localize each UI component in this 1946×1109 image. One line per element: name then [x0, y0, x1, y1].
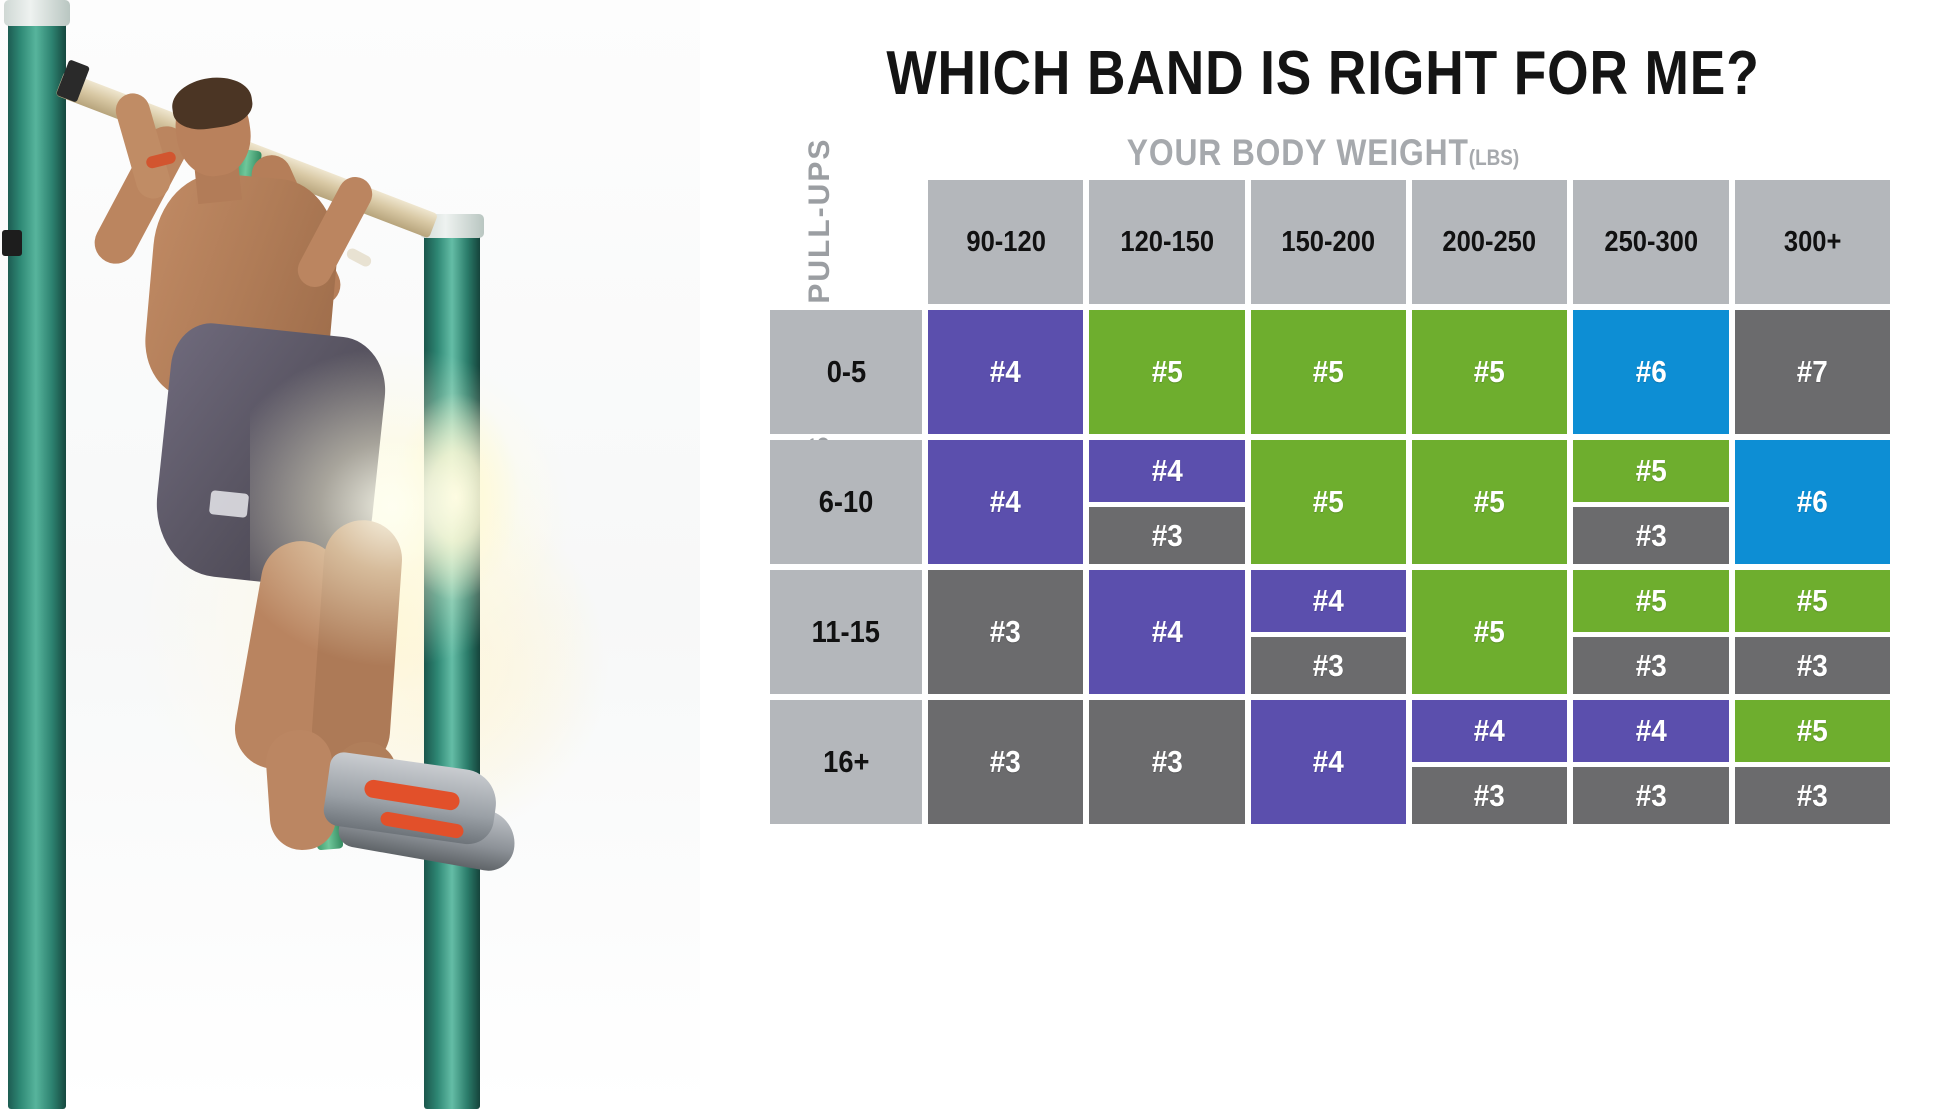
infographic-page: WHICH BAND IS RIGHT FOR ME? YOUR BODY WE… — [0, 0, 1946, 1109]
shorts-logo — [209, 490, 249, 518]
column-header: 200-250 — [1412, 180, 1567, 304]
column-header: 150-200 — [1251, 180, 1406, 304]
band-label: #4 — [990, 484, 1021, 520]
band-label: #5 — [1474, 614, 1505, 650]
band-label: #7 — [1797, 354, 1828, 390]
band-label: #5 — [1635, 453, 1666, 489]
row-header-label: 0-5 — [826, 354, 865, 390]
band-cell[interactable]: #4#3 — [1573, 700, 1728, 824]
band-cell-segment[interactable]: #3 — [1412, 767, 1567, 824]
band-cell-segment[interactable]: #3 — [1573, 767, 1728, 824]
pull-up-post-left — [8, 0, 66, 1109]
band-cell[interactable]: #6 — [1573, 310, 1728, 434]
band-label: #3 — [1151, 744, 1182, 780]
column-header-label: 150-200 — [1281, 226, 1375, 259]
x-axis-label-unit: (LBS) — [1469, 145, 1519, 170]
band-label: #4 — [990, 354, 1021, 390]
post-bracket-icon — [2, 230, 22, 256]
band-label: #3 — [1151, 518, 1182, 554]
row-header-label: 11-15 — [812, 614, 880, 650]
band-cell-segment[interactable]: #4 — [1089, 570, 1244, 694]
band-cell-segment[interactable]: #3 — [928, 700, 1083, 824]
band-cell[interactable]: #4#3 — [1412, 700, 1567, 824]
band-cell[interactable]: #5 — [1089, 310, 1244, 434]
x-axis-label: YOUR BODY WEIGHT(LBS) — [787, 132, 1859, 174]
band-label: #5 — [1313, 354, 1344, 390]
band-cell[interactable]: #3 — [928, 700, 1083, 824]
band-cell[interactable]: #3 — [928, 570, 1083, 694]
band-cell-segment[interactable]: #5 — [1412, 310, 1567, 434]
band-cell[interactable]: #6 — [1735, 440, 1890, 564]
band-cell[interactable]: #4 — [928, 440, 1083, 564]
band-label: #6 — [1797, 484, 1828, 520]
column-header-label: 200-250 — [1443, 226, 1537, 259]
band-label: #3 — [1635, 648, 1666, 684]
pull-up-post-right — [424, 218, 480, 1109]
band-cell[interactable]: #4 — [928, 310, 1083, 434]
band-cell-segment[interactable]: #4 — [1251, 700, 1406, 824]
band-cell-segment[interactable]: #3 — [1735, 637, 1890, 694]
band-label: #4 — [1474, 713, 1505, 749]
band-cell-segment[interactable]: #5 — [1735, 570, 1890, 632]
band-label: #5 — [1797, 713, 1828, 749]
column-header: 90-120 — [928, 180, 1083, 304]
band-cell-segment[interactable]: #4 — [1089, 440, 1244, 502]
band-label: #4 — [1313, 583, 1344, 619]
row-header: 6-10 — [770, 440, 922, 564]
band-cell[interactable]: #4 — [1251, 700, 1406, 824]
band-label: #4 — [1313, 744, 1344, 780]
band-cell-segment[interactable]: #5 — [1251, 310, 1406, 434]
band-cell-segment[interactable]: #5 — [1412, 440, 1567, 564]
band-cell-segment[interactable]: #5 — [1251, 440, 1406, 564]
band-label: #3 — [1313, 648, 1344, 684]
band-cell-segment[interactable]: #3 — [1089, 507, 1244, 564]
band-cell[interactable]: #5 — [1412, 310, 1567, 434]
column-header-label: 300+ — [1784, 226, 1841, 259]
band-cell[interactable]: #4#3 — [1089, 440, 1244, 564]
band-cell-segment[interactable]: #6 — [1573, 310, 1728, 434]
band-cell-segment[interactable]: #5 — [1573, 570, 1728, 632]
band-label: #5 — [1635, 583, 1666, 619]
band-label: #5 — [1151, 354, 1182, 390]
x-axis-label-main: YOUR BODY WEIGHT — [1127, 132, 1469, 173]
band-cell-segment[interactable]: #5 — [1412, 570, 1567, 694]
column-header: 120-150 — [1089, 180, 1244, 304]
band-label: #5 — [1474, 354, 1505, 390]
band-cell-segment[interactable]: #7 — [1735, 310, 1890, 434]
band-label: #3 — [1635, 778, 1666, 814]
row-header-label: 6-10 — [819, 484, 874, 520]
column-header-label: 90-120 — [966, 226, 1045, 259]
band-label: #5 — [1313, 484, 1344, 520]
band-label: #4 — [1151, 614, 1182, 650]
column-header: 250-300 — [1573, 180, 1728, 304]
band-cell[interactable]: #5#3 — [1573, 440, 1728, 564]
post-cap-left — [4, 0, 70, 26]
band-cell[interactable]: #5 — [1412, 440, 1567, 564]
band-cell-segment[interactable]: #3 — [1735, 767, 1890, 824]
band-cell[interactable]: #3 — [1089, 700, 1244, 824]
band-cell[interactable]: #5#3 — [1735, 700, 1890, 824]
band-cell[interactable]: #4#3 — [1251, 570, 1406, 694]
band-label: #6 — [1635, 354, 1666, 390]
band-label: #4 — [1635, 713, 1666, 749]
band-cell[interactable]: #5 — [1251, 310, 1406, 434]
band-selection-chart: WHICH BAND IS RIGHT FOR ME? YOUR BODY WE… — [700, 0, 1946, 1109]
band-cell-segment[interactable]: #4 — [1573, 700, 1728, 762]
column-header-label: 120-150 — [1120, 226, 1214, 259]
band-cell-segment[interactable]: #5 — [1089, 310, 1244, 434]
band-label: #4 — [1151, 453, 1182, 489]
band-label: #3 — [1797, 648, 1828, 684]
column-header-label: 250-300 — [1604, 226, 1698, 259]
band-label: #3 — [1474, 778, 1505, 814]
band-label: #3 — [1797, 778, 1828, 814]
band-cell-segment[interactable]: #4 — [928, 310, 1083, 434]
band-cell-segment[interactable]: #4 — [1251, 570, 1406, 632]
grid-corner — [770, 180, 922, 304]
band-cell[interactable]: #5#3 — [1573, 570, 1728, 694]
band-cell[interactable]: #5 — [1251, 440, 1406, 564]
band-cell-segment[interactable]: #3 — [928, 570, 1083, 694]
band-cell-segment[interactable]: #3 — [1251, 637, 1406, 694]
page-title: WHICH BAND IS RIGHT FOR ME? — [787, 38, 1859, 109]
column-header: 300+ — [1735, 180, 1890, 304]
band-label: #5 — [1797, 583, 1828, 619]
band-cell[interactable]: #5#3 — [1735, 570, 1890, 694]
band-label: #3 — [990, 744, 1021, 780]
row-header: 16+ — [770, 700, 922, 824]
band-cell[interactable]: #4 — [1089, 570, 1244, 694]
band-label: #3 — [1635, 518, 1666, 554]
band-label: #3 — [990, 614, 1021, 650]
band-label: #5 — [1474, 484, 1505, 520]
band-cell-segment[interactable]: #5 — [1573, 440, 1728, 502]
band-matrix-grid: 90-120120-150150-200200-250250-300300+0-… — [770, 180, 1890, 824]
row-header-label: 16+ — [823, 744, 869, 780]
band-cell[interactable]: #7 — [1735, 310, 1890, 434]
band-cell-segment[interactable]: #6 — [1735, 440, 1890, 564]
athlete-photo — [0, 0, 700, 1109]
row-header: 0-5 — [770, 310, 922, 434]
band-cell-segment[interactable]: #4 — [1412, 700, 1567, 762]
band-cell-segment[interactable]: #5 — [1735, 700, 1890, 762]
row-header: 11-15 — [770, 570, 922, 694]
band-cell-segment[interactable]: #4 — [928, 440, 1083, 564]
band-cell-segment[interactable]: #3 — [1573, 637, 1728, 694]
band-cell-segment[interactable]: #3 — [1089, 700, 1244, 824]
band-cell-segment[interactable]: #3 — [1573, 507, 1728, 564]
band-cell[interactable]: #5 — [1412, 570, 1567, 694]
